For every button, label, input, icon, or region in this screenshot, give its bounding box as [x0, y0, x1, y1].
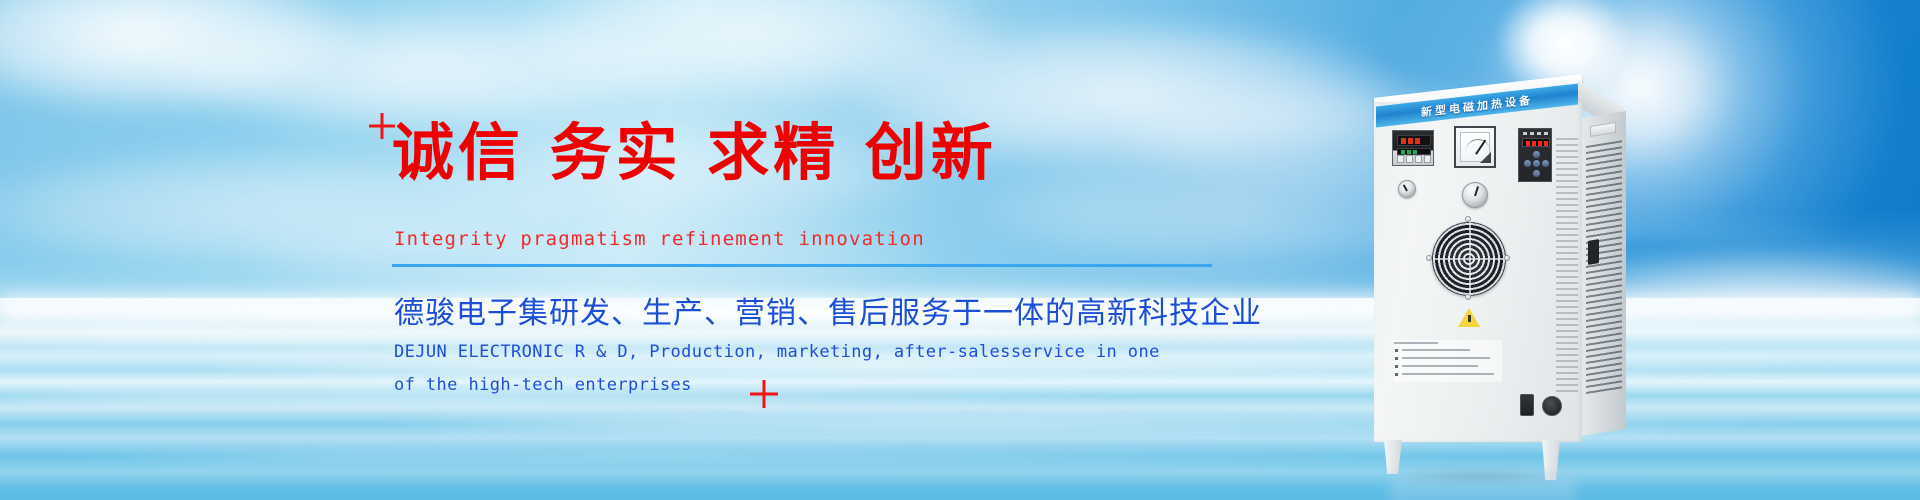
keypad-buttons[interactable]	[1524, 151, 1548, 179]
connector-port-round	[1542, 396, 1562, 416]
subtitle-english-line2: of the high-tech enterprises	[394, 369, 1160, 402]
fan-screw	[1504, 255, 1510, 261]
spec-bullet	[1395, 365, 1398, 368]
side-ventilation-louvers	[1586, 140, 1622, 396]
connector-port-rectangular	[1520, 394, 1534, 416]
spec-bullet	[1395, 349, 1398, 352]
water-streak	[60, 452, 1520, 461]
warning-triangle-icon	[1458, 308, 1480, 327]
controller-display-secondary	[1397, 148, 1431, 155]
promo-banner: 诚信 务实 求精 创新 Integrity pragmatism refinem…	[0, 0, 1920, 500]
headline-slogan: 诚信 务实 求精 创新	[392, 120, 997, 187]
keypad-control-panel[interactable]	[1518, 128, 1552, 182]
tagline-english: Integrity pragmatism refinement innovati…	[394, 228, 925, 250]
divider-rule	[392, 264, 1212, 267]
keypad-display	[1522, 138, 1550, 147]
specification-label	[1394, 340, 1502, 382]
fan-screw	[1426, 255, 1432, 261]
front-ventilation-louvers	[1556, 138, 1578, 394]
fan-spoke	[1433, 258, 1507, 260]
subtitle-english-line1: DEJUN ELECTRONIC R & D, Production, mark…	[394, 336, 1160, 369]
induction-heater-machine: 新型电磁加热设备	[1370, 72, 1630, 492]
fan-screw	[1465, 294, 1471, 300]
rotary-power-knob[interactable]	[1462, 182, 1488, 208]
subtitle-english: DEJUN ELECTRONIC R & D, Production, mark…	[394, 336, 1160, 402]
subtitle-chinese: 德骏电子集研发、生产、营销、售后服务于一体的高新科技企业	[394, 288, 1262, 332]
keypad-indicator-leds	[1523, 132, 1548, 135]
digital-temperature-controller[interactable]	[1392, 130, 1434, 166]
controller-buttons[interactable]	[1397, 155, 1431, 163]
side-access-port	[1588, 239, 1599, 265]
machine-reflection	[1390, 476, 1575, 500]
controller-display-primary	[1397, 135, 1431, 146]
meter-corner-notch	[1480, 152, 1491, 163]
spec-bullet	[1395, 373, 1398, 376]
cabinet-leg	[1384, 440, 1402, 474]
fan-screw	[1465, 216, 1471, 222]
rotary-selector-knob[interactable]	[1398, 180, 1416, 198]
analog-panel-meter	[1454, 126, 1496, 168]
spec-bullet	[1395, 357, 1398, 360]
cooling-fan-grille	[1432, 222, 1506, 296]
